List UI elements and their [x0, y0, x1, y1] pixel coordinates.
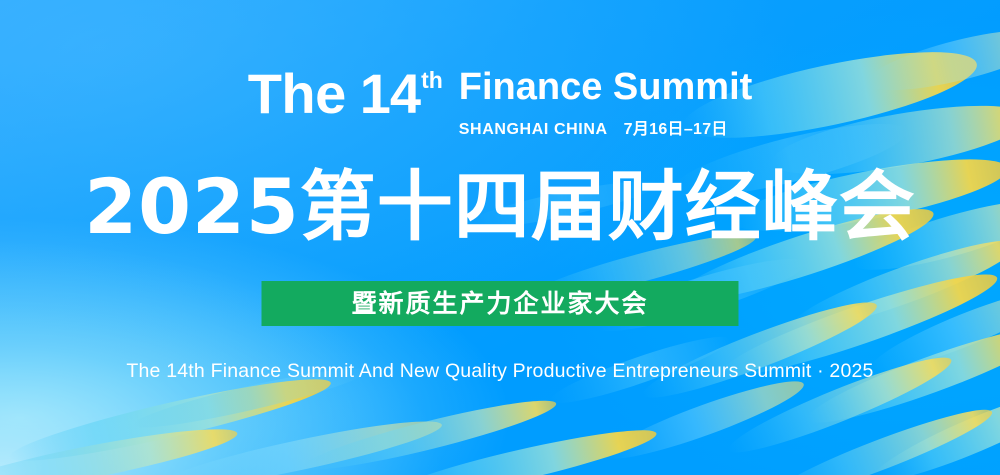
headline-subline: SHANGHAI CHINA 7月16日–17日 [459, 115, 753, 139]
subtitle-banner: 暨新质生产力企业家大会 [262, 281, 739, 326]
headline-row: The 14 th Finance Summit SHANGHAI CHINA … [0, 66, 1000, 139]
headline-city: SHANGHAI CHINA [459, 121, 608, 139]
poster-content: The 14 th Finance Summit SHANGHAI CHINA … [0, 0, 1000, 475]
headline-event-name: Finance Summit [459, 68, 753, 106]
subtitle-banner-text: 暨新质生产力企业家大会 [351, 291, 648, 316]
headline-edition-number: 14 [360, 66, 420, 122]
headline-the: The [248, 66, 346, 122]
headline-date: 7月16日–17日 [624, 115, 728, 139]
event-poster: The 14 th Finance Summit SHANGHAI CHINA … [0, 0, 1000, 475]
main-title: 2025第十四届财经峰会 [0, 166, 1000, 248]
footer-tagline: The 14th Finance Summit And New Quality … [0, 360, 1000, 383]
headline-ordinal-suffix: th [421, 69, 443, 92]
